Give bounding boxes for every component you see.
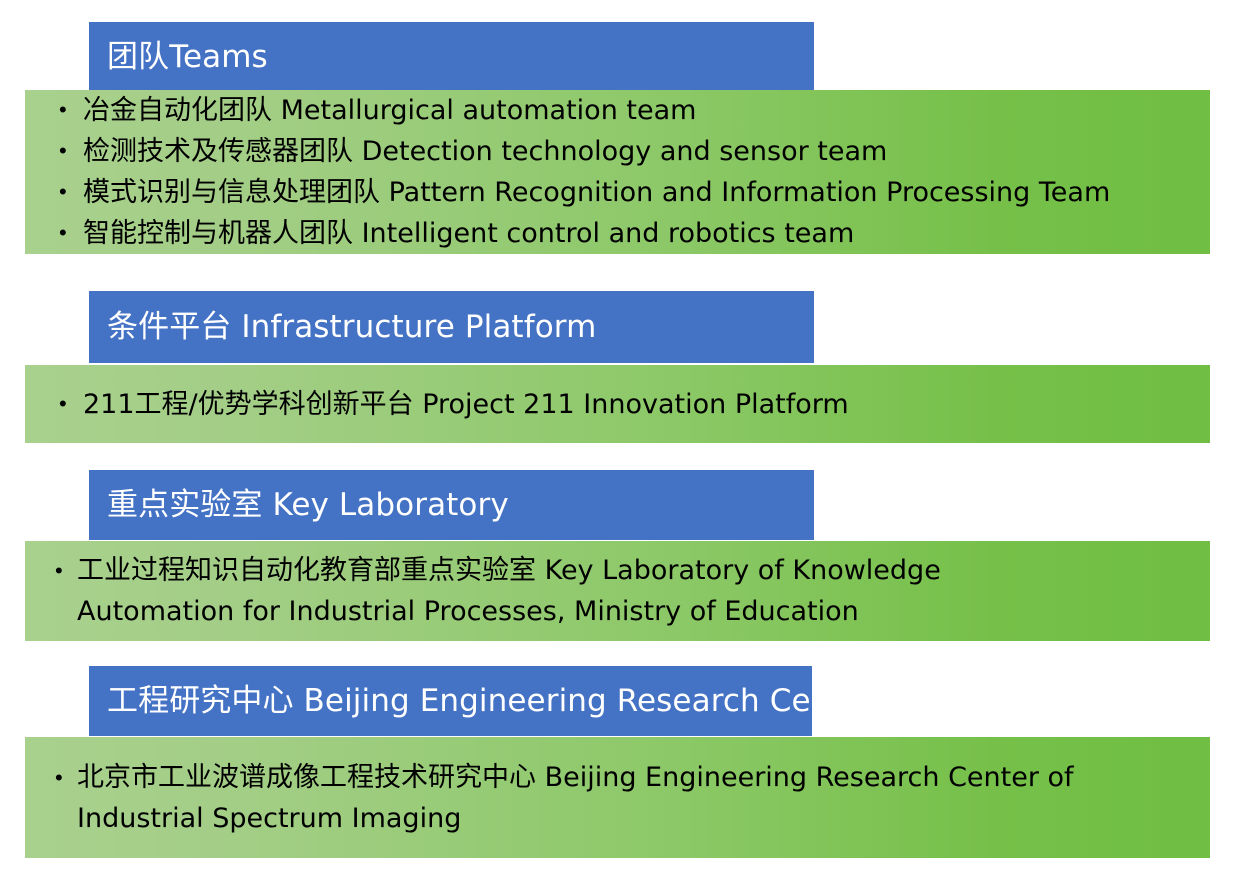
list-item-label: 211工程/优势学科创新平台 Project 211 Innovation Pl… bbox=[83, 389, 849, 420]
bullet-dot-icon: • bbox=[55, 550, 69, 591]
list-item[interactable]: • 模式识别与信息处理团队 Pattern Recognition and In… bbox=[25, 172, 1210, 213]
section-header-infrastructure-label: 条件平台 Infrastructure Platform bbox=[89, 310, 596, 344]
bullet-dot-icon: • bbox=[59, 172, 73, 212]
bullet-dot-icon: • bbox=[55, 757, 69, 798]
erc-list: • 北京市工业波谱成像工程技术研究中心 Beijing Engineering … bbox=[25, 757, 1210, 839]
list-item[interactable]: • 冶金自动化团队 Metallurgical automation team bbox=[25, 90, 1210, 131]
list-item-label: 智能控制与机器人团队 Intelligent control and robot… bbox=[83, 218, 854, 249]
section-header-teams[interactable]: 团队Teams bbox=[89, 22, 814, 92]
section-header-keylab[interactable]: 重点实验室 Key Laboratory bbox=[89, 470, 814, 540]
list-item[interactable]: • 北京市工业波谱成像工程技术研究中心 Beijing Engineering … bbox=[25, 757, 1210, 839]
section-header-teams-label: 团队Teams bbox=[89, 40, 268, 74]
list-item[interactable]: • 工业过程知识自动化教育部重点实验室 Key Laboratory of Kn… bbox=[25, 550, 1210, 632]
bullet-dot-icon: • bbox=[59, 384, 73, 424]
section-panel-infrastructure: • 211工程/优势学科创新平台 Project 211 Innovation … bbox=[25, 365, 1210, 443]
bullet-dot-icon: • bbox=[59, 131, 73, 171]
section-header-erc-label: 工程研究中心 Beijing Engineering Research Cent… bbox=[89, 684, 875, 718]
list-item[interactable]: • 智能控制与机器人团队 Intelligent control and rob… bbox=[25, 213, 1210, 254]
list-item-label: 工业过程知识自动化教育部重点实验室 Key Laboratory of Know… bbox=[77, 555, 941, 627]
list-item-label: 模式识别与信息处理团队 Pattern Recognition and Info… bbox=[83, 177, 1110, 208]
bullet-dot-icon: • bbox=[59, 90, 73, 130]
list-item-label: 北京市工业波谱成像工程技术研究中心 Beijing Engineering Re… bbox=[77, 762, 1074, 834]
slide-canvas: 团队Teams • 冶金自动化团队 Metallurgical automati… bbox=[0, 0, 1239, 885]
section-header-keylab-label: 重点实验室 Key Laboratory bbox=[89, 488, 509, 522]
keylab-list: • 工业过程知识自动化教育部重点实验室 Key Laboratory of Kn… bbox=[25, 550, 1210, 632]
section-header-infrastructure[interactable]: 条件平台 Infrastructure Platform bbox=[89, 291, 814, 363]
section-panel-teams: • 冶金自动化团队 Metallurgical automation team … bbox=[25, 90, 1210, 254]
infrastructure-list: • 211工程/优势学科创新平台 Project 211 Innovation … bbox=[25, 384, 1210, 425]
section-header-erc[interactable]: 工程研究中心 Beijing Engineering Research Cent… bbox=[89, 666, 812, 736]
section-panel-keylab: • 工业过程知识自动化教育部重点实验室 Key Laboratory of Kn… bbox=[25, 541, 1210, 641]
list-item-label: 检测技术及传感器团队 Detection technology and sens… bbox=[83, 136, 887, 167]
teams-list: • 冶金自动化团队 Metallurgical automation team … bbox=[25, 90, 1210, 254]
list-item-label: 冶金自动化团队 Metallurgical automation team bbox=[83, 95, 696, 126]
section-panel-erc: • 北京市工业波谱成像工程技术研究中心 Beijing Engineering … bbox=[25, 737, 1210, 858]
bullet-dot-icon: • bbox=[59, 213, 73, 253]
list-item[interactable]: • 211工程/优势学科创新平台 Project 211 Innovation … bbox=[25, 384, 1210, 425]
list-item[interactable]: • 检测技术及传感器团队 Detection technology and se… bbox=[25, 131, 1210, 172]
